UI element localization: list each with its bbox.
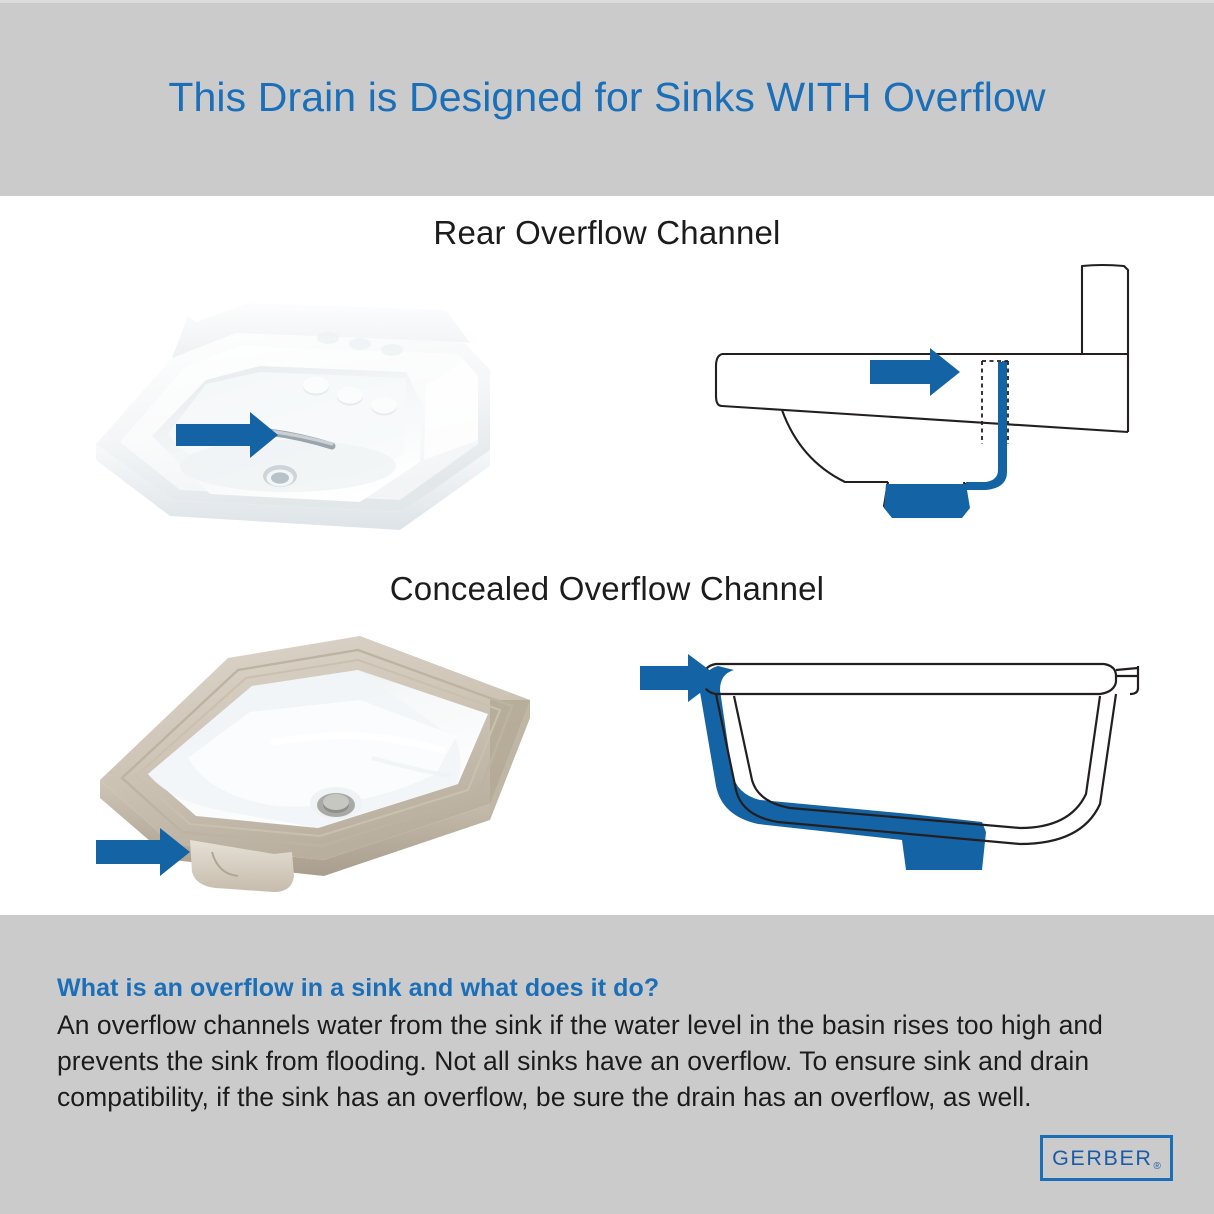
- section-concealed-overflow: Concealed Overflow Channel: [0, 558, 1214, 915]
- wall-mount-sink-photo: [60, 254, 620, 554]
- illustration-area: Rear Overflow Channel: [0, 196, 1214, 915]
- drain-hole: [310, 787, 362, 819]
- section-heading-rear: Rear Overflow Channel: [0, 214, 1214, 252]
- rear-overflow-cross-section: [630, 254, 1190, 554]
- footer-band: What is an overflow in a sink and what d…: [0, 915, 1214, 1214]
- header-band: This Drain is Designed for Sinks WITH Ov…: [0, 0, 1214, 196]
- registered-trademark-icon: ®: [1153, 1161, 1161, 1178]
- section-heading-concealed: Concealed Overflow Channel: [0, 570, 1214, 608]
- illustration-row-concealed: [0, 608, 1214, 908]
- concealed-overflow-cross-section: [630, 608, 1190, 908]
- gerber-logo-text: GERBER: [1052, 1146, 1152, 1171]
- page-title: This Drain is Designed for Sinks WITH Ov…: [168, 74, 1045, 125]
- infographic-page: This Drain is Designed for Sinks WITH Ov…: [0, 0, 1214, 1214]
- blue-arrow-rear-channel: [870, 348, 960, 396]
- gerber-logo: GERBER ®: [1040, 1135, 1173, 1181]
- drain-hole: [263, 465, 297, 487]
- section-rear-overflow: Rear Overflow Channel: [0, 196, 1214, 556]
- illustration-row-rear: [0, 254, 1214, 554]
- footer-body-text: An overflow channels water from the sink…: [57, 1007, 1132, 1115]
- undermount-sink-photo: [60, 608, 620, 908]
- footer-question: What is an overflow in a sink and what d…: [57, 974, 659, 1003]
